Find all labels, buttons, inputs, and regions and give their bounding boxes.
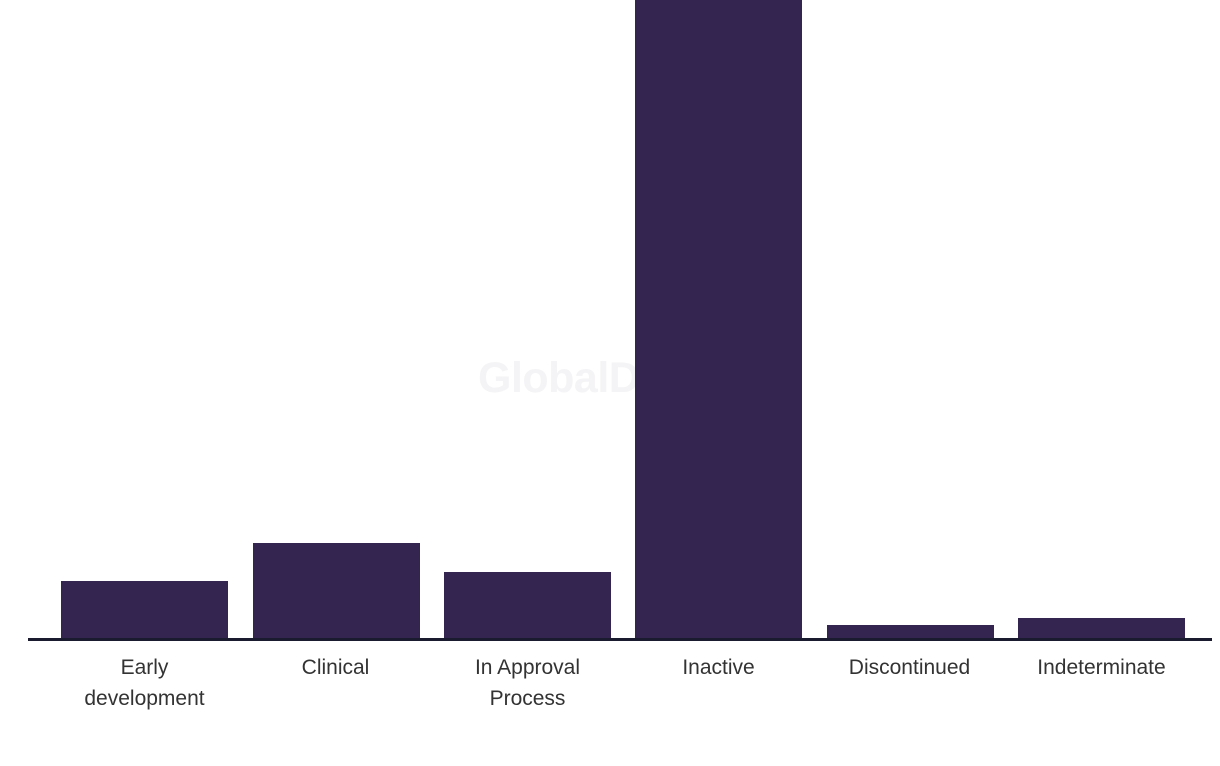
bar[interactable] <box>827 625 994 639</box>
x-tick-label: In Approval Process <box>420 652 635 714</box>
bar[interactable] <box>1018 618 1185 639</box>
x-tick-label: Early development <box>37 652 252 714</box>
x-axis-labels: Early developmentClinicalIn Approval Pro… <box>0 652 1220 732</box>
x-tick-label: Inactive <box>611 652 826 683</box>
bar[interactable] <box>444 572 611 639</box>
bar-chart: GlobalData Early developmentClinicalIn A… <box>0 0 1220 766</box>
bar[interactable] <box>61 581 228 639</box>
x-axis-line <box>28 638 1212 641</box>
plot-area <box>0 0 1220 639</box>
x-tick-label: Clinical <box>228 652 443 683</box>
x-tick-label: Discontinued <box>802 652 1017 683</box>
bar[interactable] <box>253 543 420 639</box>
x-tick-label: Indeterminate <box>994 652 1209 683</box>
bar[interactable] <box>635 0 802 639</box>
